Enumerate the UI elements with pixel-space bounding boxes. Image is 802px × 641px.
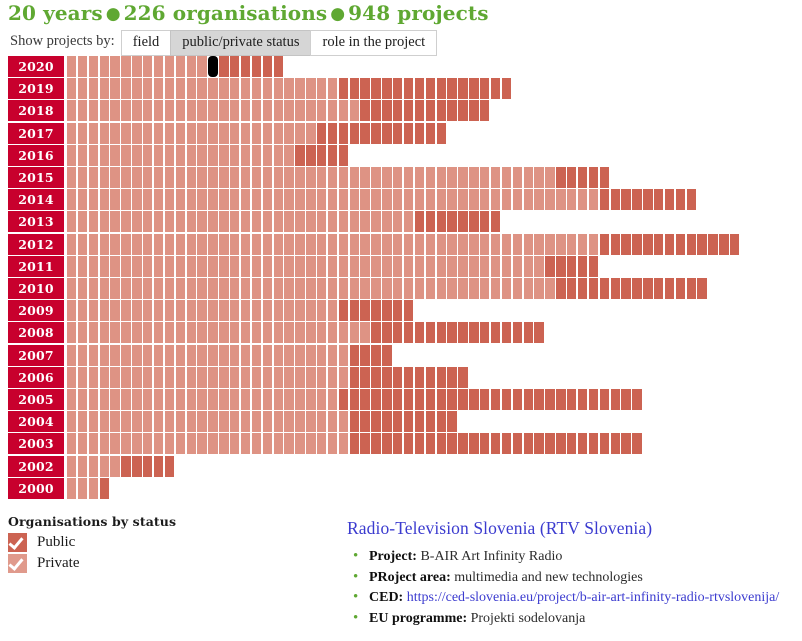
- project-cell[interactable]: [143, 345, 152, 366]
- project-cell[interactable]: [176, 345, 185, 366]
- project-cell[interactable]: [382, 100, 391, 121]
- project-cell[interactable]: [545, 433, 554, 454]
- project-cell[interactable]: [502, 322, 511, 343]
- project-cell[interactable]: [241, 256, 250, 277]
- project-cell[interactable]: [100, 167, 109, 188]
- project-cell[interactable]: [415, 411, 424, 432]
- project-cell[interactable]: [317, 300, 326, 321]
- project-cell[interactable]: [208, 389, 217, 410]
- project-cell[interactable]: [165, 123, 174, 144]
- project-cell[interactable]: [600, 278, 609, 299]
- project-cell[interactable]: [306, 278, 315, 299]
- project-cell[interactable]: [426, 234, 435, 255]
- project-cell[interactable]: [252, 145, 261, 166]
- project-cell[interactable]: [89, 345, 98, 366]
- project-cell[interactable]: [393, 322, 402, 343]
- project-cell[interactable]: [317, 367, 326, 388]
- project-cell[interactable]: [556, 433, 565, 454]
- project-cell[interactable]: [480, 189, 489, 210]
- project-cell[interactable]: [480, 211, 489, 232]
- project-cell[interactable]: [339, 211, 348, 232]
- project-cell[interactable]: [502, 389, 511, 410]
- project-cell[interactable]: [339, 345, 348, 366]
- project-cell[interactable]: [556, 234, 565, 255]
- project-cell[interactable]: [121, 56, 130, 77]
- project-cell[interactable]: [230, 167, 239, 188]
- project-cell[interactable]: [176, 145, 185, 166]
- project-cell[interactable]: [197, 211, 206, 232]
- project-cell[interactable]: [187, 433, 196, 454]
- project-cell[interactable]: [437, 234, 446, 255]
- project-cell[interactable]: [306, 189, 315, 210]
- project-cell[interactable]: [154, 211, 163, 232]
- project-cell[interactable]: [415, 433, 424, 454]
- project-cell[interactable]: [371, 189, 380, 210]
- project-cell[interactable]: [556, 278, 565, 299]
- project-cell[interactable]: [263, 78, 272, 99]
- project-cell[interactable]: [284, 167, 293, 188]
- project-cell[interactable]: [447, 167, 456, 188]
- project-cell[interactable]: [110, 167, 119, 188]
- project-cell[interactable]: [121, 211, 130, 232]
- project-cell[interactable]: [154, 256, 163, 277]
- project-cell[interactable]: [219, 78, 228, 99]
- project-cell[interactable]: [589, 278, 598, 299]
- project-cell[interactable]: [67, 478, 76, 499]
- project-cell[interactable]: [208, 278, 217, 299]
- project-cell[interactable]: [458, 100, 467, 121]
- project-cell[interactable]: [284, 256, 293, 277]
- project-cell[interactable]: [67, 234, 76, 255]
- project-cell[interactable]: [491, 167, 500, 188]
- project-cell[interactable]: [176, 100, 185, 121]
- project-cell[interactable]: [89, 456, 98, 477]
- project-cell[interactable]: [154, 189, 163, 210]
- project-cell[interactable]: [230, 322, 239, 343]
- project-cell[interactable]: [382, 78, 391, 99]
- project-cell[interactable]: [437, 411, 446, 432]
- project-cell[interactable]: [676, 234, 685, 255]
- project-cell[interactable]: [458, 433, 467, 454]
- project-cell[interactable]: [284, 345, 293, 366]
- project-cell[interactable]: [284, 211, 293, 232]
- project-cell[interactable]: [469, 78, 478, 99]
- project-cell[interactable]: [306, 78, 315, 99]
- project-cell[interactable]: [404, 100, 413, 121]
- project-cell[interactable]: [121, 367, 130, 388]
- year-label-2009[interactable]: 2009: [8, 300, 64, 321]
- project-cell[interactable]: [230, 433, 239, 454]
- project-cell[interactable]: [284, 145, 293, 166]
- project-cell[interactable]: [317, 189, 326, 210]
- project-cell[interactable]: [306, 123, 315, 144]
- project-cell[interactable]: [556, 167, 565, 188]
- project-cell[interactable]: [306, 234, 315, 255]
- project-cell[interactable]: [437, 389, 446, 410]
- project-cell[interactable]: [67, 56, 76, 77]
- project-cell[interactable]: [165, 433, 174, 454]
- project-cell[interactable]: [491, 211, 500, 232]
- project-cell[interactable]: [78, 100, 87, 121]
- project-cell[interactable]: [219, 234, 228, 255]
- project-cell[interactable]: [382, 123, 391, 144]
- project-cell[interactable]: [197, 100, 206, 121]
- project-cell[interactable]: [437, 322, 446, 343]
- project-cell[interactable]: [252, 367, 261, 388]
- project-cell[interactable]: [241, 123, 250, 144]
- tab-field[interactable]: field: [121, 30, 172, 56]
- project-cell[interactable]: [197, 189, 206, 210]
- year-label-2005[interactable]: 2005: [8, 389, 64, 410]
- project-cell[interactable]: [524, 189, 533, 210]
- project-cell[interactable]: [339, 123, 348, 144]
- project-cell[interactable]: [176, 411, 185, 432]
- project-cell[interactable]: [545, 256, 554, 277]
- project-cell[interactable]: [524, 234, 533, 255]
- project-cell[interactable]: [230, 211, 239, 232]
- project-cell[interactable]: [110, 411, 119, 432]
- project-cell[interactable]: [284, 234, 293, 255]
- project-cell[interactable]: [611, 433, 620, 454]
- project-cell[interactable]: [284, 300, 293, 321]
- project-cell[interactable]: [132, 345, 141, 366]
- project-cell[interactable]: [263, 278, 272, 299]
- project-cell[interactable]: [491, 234, 500, 255]
- project-cell[interactable]: [143, 56, 152, 77]
- project-cell[interactable]: [534, 433, 543, 454]
- project-cell[interactable]: [78, 478, 87, 499]
- project-cell[interactable]: [350, 300, 359, 321]
- project-cell[interactable]: [241, 345, 250, 366]
- project-cell[interactable]: [524, 167, 533, 188]
- project-cell[interactable]: [350, 345, 359, 366]
- project-cell[interactable]: [513, 322, 522, 343]
- project-cell[interactable]: [208, 411, 217, 432]
- project-cell[interactable]: [165, 234, 174, 255]
- project-cell[interactable]: [502, 78, 511, 99]
- project-cell[interactable]: [404, 389, 413, 410]
- project-cell[interactable]: [176, 123, 185, 144]
- project-cell[interactable]: [350, 322, 359, 343]
- project-cell[interactable]: [100, 211, 109, 232]
- project-cell[interactable]: [295, 300, 304, 321]
- project-cell[interactable]: [252, 300, 261, 321]
- project-cell[interactable]: [154, 123, 163, 144]
- project-cell[interactable]: [393, 211, 402, 232]
- project-cell[interactable]: [371, 123, 380, 144]
- project-cell[interactable]: [110, 189, 119, 210]
- project-cell[interactable]: [317, 278, 326, 299]
- project-cell[interactable]: [89, 300, 98, 321]
- project-cell[interactable]: [371, 367, 380, 388]
- project-cell[interactable]: [154, 345, 163, 366]
- project-cell[interactable]: [263, 300, 272, 321]
- project-cell[interactable]: [578, 189, 587, 210]
- project-cell[interactable]: [350, 100, 359, 121]
- project-cell[interactable]: [556, 189, 565, 210]
- project-cell[interactable]: [415, 167, 424, 188]
- project-cell[interactable]: [154, 322, 163, 343]
- project-cell[interactable]: [632, 433, 641, 454]
- project-cell[interactable]: [687, 189, 696, 210]
- project-cell[interactable]: [100, 322, 109, 343]
- legend-item-public[interactable]: Public: [8, 533, 176, 552]
- project-cell[interactable]: [263, 189, 272, 210]
- year-label-2020[interactable]: 2020: [8, 56, 64, 77]
- project-cell[interactable]: [197, 256, 206, 277]
- project-cell[interactable]: [480, 100, 489, 121]
- project-cell[interactable]: [306, 389, 315, 410]
- project-cell[interactable]: [339, 189, 348, 210]
- project-cell[interactable]: [480, 389, 489, 410]
- project-cell[interactable]: [306, 345, 315, 366]
- project-cell[interactable]: [208, 123, 217, 144]
- project-cell[interactable]: [143, 145, 152, 166]
- project-cell[interactable]: [437, 278, 446, 299]
- project-cell[interactable]: [339, 300, 348, 321]
- project-cell[interactable]: [89, 256, 98, 277]
- project-cell[interactable]: [513, 389, 522, 410]
- project-cell[interactable]: [121, 300, 130, 321]
- project-cell[interactable]: [154, 100, 163, 121]
- project-cell[interactable]: [437, 100, 446, 121]
- project-cell[interactable]: [121, 145, 130, 166]
- project-cell[interactable]: [154, 456, 163, 477]
- project-cell[interactable]: [393, 367, 402, 388]
- project-cell[interactable]: [502, 278, 511, 299]
- project-cell[interactable]: [350, 234, 359, 255]
- project-cell[interactable]: [274, 167, 283, 188]
- project-cell[interactable]: [187, 389, 196, 410]
- project-cell[interactable]: [110, 345, 119, 366]
- project-cell[interactable]: [360, 433, 369, 454]
- project-cell[interactable]: [447, 211, 456, 232]
- project-cell[interactable]: [219, 211, 228, 232]
- project-cell[interactable]: [404, 411, 413, 432]
- project-cell[interactable]: [328, 389, 337, 410]
- project-cell[interactable]: [121, 256, 130, 277]
- project-cell[interactable]: [621, 433, 630, 454]
- project-cell[interactable]: [132, 367, 141, 388]
- project-cell[interactable]: [121, 234, 130, 255]
- project-cell[interactable]: [132, 189, 141, 210]
- project-cell[interactable]: [687, 278, 696, 299]
- project-cell[interactable]: [274, 256, 283, 277]
- project-cell[interactable]: [132, 100, 141, 121]
- project-cell[interactable]: [578, 389, 587, 410]
- project-cell[interactable]: [78, 56, 87, 77]
- project-cell[interactable]: [230, 56, 239, 77]
- project-cell[interactable]: [274, 389, 283, 410]
- project-cell[interactable]: [404, 211, 413, 232]
- project-cell[interactable]: [328, 411, 337, 432]
- project-cell[interactable]: [110, 389, 119, 410]
- project-cell[interactable]: [132, 167, 141, 188]
- project-cell[interactable]: [132, 433, 141, 454]
- project-cell[interactable]: [230, 300, 239, 321]
- project-cell[interactable]: [219, 123, 228, 144]
- project-cell[interactable]: [284, 78, 293, 99]
- project-cell[interactable]: [230, 278, 239, 299]
- project-cell[interactable]: [187, 123, 196, 144]
- project-cell[interactable]: [665, 189, 674, 210]
- project-cell[interactable]: [197, 78, 206, 99]
- project-cell[interactable]: [393, 256, 402, 277]
- project-cell[interactable]: [208, 100, 217, 121]
- project-cell[interactable]: [252, 123, 261, 144]
- project-cell[interactable]: [121, 433, 130, 454]
- project-cell[interactable]: [78, 189, 87, 210]
- project-cell[interactable]: [360, 211, 369, 232]
- project-cell[interactable]: [426, 211, 435, 232]
- project-cell[interactable]: [469, 278, 478, 299]
- project-cell[interactable]: [100, 56, 109, 77]
- project-cell[interactable]: [252, 167, 261, 188]
- project-cell[interactable]: [447, 256, 456, 277]
- project-cell[interactable]: [415, 389, 424, 410]
- project-cell[interactable]: [589, 389, 598, 410]
- project-cell[interactable]: [208, 345, 217, 366]
- year-label-2014[interactable]: 2014: [8, 189, 64, 210]
- project-cell[interactable]: [447, 322, 456, 343]
- project-cell[interactable]: [306, 167, 315, 188]
- project-cell[interactable]: [187, 256, 196, 277]
- project-cell[interactable]: [295, 411, 304, 432]
- project-cell[interactable]: [328, 211, 337, 232]
- project-cell[interactable]: [78, 456, 87, 477]
- project-cell[interactable]: [404, 189, 413, 210]
- project-cell[interactable]: [67, 189, 76, 210]
- project-cell[interactable]: [241, 278, 250, 299]
- project-cell[interactable]: [534, 167, 543, 188]
- project-cell[interactable]: [730, 234, 739, 255]
- project-cell[interactable]: [154, 78, 163, 99]
- project-cell[interactable]: [480, 322, 489, 343]
- project-cell[interactable]: [578, 278, 587, 299]
- project-cell[interactable]: [524, 256, 533, 277]
- project-cell[interactable]: [600, 389, 609, 410]
- project-cell[interactable]: [339, 278, 348, 299]
- project-cell[interactable]: [447, 234, 456, 255]
- project-cell[interactable]: [197, 56, 206, 77]
- project-cell[interactable]: [197, 278, 206, 299]
- project-cell[interactable]: [404, 300, 413, 321]
- project-cell[interactable]: [67, 456, 76, 477]
- project-cell[interactable]: [89, 322, 98, 343]
- project-cell[interactable]: [491, 278, 500, 299]
- project-cell[interactable]: [67, 300, 76, 321]
- project-cell[interactable]: [676, 189, 685, 210]
- project-cell[interactable]: [143, 411, 152, 432]
- project-cell[interactable]: [339, 100, 348, 121]
- project-cell[interactable]: [415, 234, 424, 255]
- project-cell[interactable]: [437, 367, 446, 388]
- project-cell[interactable]: [110, 278, 119, 299]
- project-cell[interactable]: [317, 78, 326, 99]
- project-cell[interactable]: [208, 211, 217, 232]
- project-cell[interactable]: [382, 433, 391, 454]
- project-cell[interactable]: [187, 100, 196, 121]
- project-cell[interactable]: [360, 167, 369, 188]
- project-cell[interactable]: [219, 189, 228, 210]
- project-cell[interactable]: [360, 322, 369, 343]
- project-cell[interactable]: [371, 411, 380, 432]
- project-cell[interactable]: [241, 167, 250, 188]
- project-cell[interactable]: [611, 278, 620, 299]
- project-cell[interactable]: [67, 322, 76, 343]
- project-cell[interactable]: [78, 211, 87, 232]
- project-cell[interactable]: [426, 123, 435, 144]
- project-cell[interactable]: [89, 189, 98, 210]
- project-cell[interactable]: [274, 433, 283, 454]
- project-cell[interactable]: [295, 211, 304, 232]
- project-cell[interactable]: [165, 256, 174, 277]
- project-cell[interactable]: [165, 78, 174, 99]
- project-cell[interactable]: [502, 256, 511, 277]
- project-cell[interactable]: [241, 367, 250, 388]
- project-cell[interactable]: [110, 256, 119, 277]
- project-cell[interactable]: [393, 411, 402, 432]
- project-cell[interactable]: [208, 367, 217, 388]
- project-cell[interactable]: [89, 100, 98, 121]
- project-cell[interactable]: [263, 234, 272, 255]
- project-cell[interactable]: [143, 211, 152, 232]
- project-cell[interactable]: [165, 322, 174, 343]
- project-cell[interactable]: [274, 234, 283, 255]
- project-cell[interactable]: [393, 100, 402, 121]
- project-cell[interactable]: [67, 389, 76, 410]
- project-cell[interactable]: [360, 389, 369, 410]
- project-cell[interactable]: [295, 167, 304, 188]
- project-cell[interactable]: [350, 433, 359, 454]
- project-cell[interactable]: [165, 456, 174, 477]
- project-cell[interactable]: [350, 167, 359, 188]
- year-label-2015[interactable]: 2015: [8, 167, 64, 188]
- project-cell[interactable]: [187, 211, 196, 232]
- project-cell[interactable]: [230, 78, 239, 99]
- project-cell[interactable]: [524, 278, 533, 299]
- project-cell[interactable]: [458, 256, 467, 277]
- year-label-2006[interactable]: 2006: [8, 367, 64, 388]
- project-cell[interactable]: [67, 256, 76, 277]
- project-cell[interactable]: [350, 211, 359, 232]
- project-cell[interactable]: [67, 167, 76, 188]
- project-cell[interactable]: [480, 433, 489, 454]
- project-cell[interactable]: [263, 322, 272, 343]
- project-cell[interactable]: [480, 234, 489, 255]
- project-cell[interactable]: [480, 167, 489, 188]
- project-cell[interactable]: [263, 167, 272, 188]
- project-cell[interactable]: [176, 433, 185, 454]
- year-label-2007[interactable]: 2007: [8, 345, 64, 366]
- tab-role-in-the-project[interactable]: role in the project: [310, 30, 437, 56]
- project-cell[interactable]: [306, 322, 315, 343]
- project-cell[interactable]: [110, 456, 119, 477]
- project-cell[interactable]: [306, 145, 315, 166]
- project-cell[interactable]: [274, 189, 283, 210]
- project-cell[interactable]: [154, 167, 163, 188]
- project-cell[interactable]: [328, 433, 337, 454]
- project-cell[interactable]: [697, 278, 706, 299]
- project-cell[interactable]: [67, 145, 76, 166]
- project-cell[interactable]: [458, 234, 467, 255]
- project-cell[interactable]: [230, 389, 239, 410]
- project-cell[interactable]: [393, 300, 402, 321]
- project-cell[interactable]: [132, 256, 141, 277]
- project-cell[interactable]: [317, 123, 326, 144]
- project-cell[interactable]: [89, 278, 98, 299]
- project-cell[interactable]: [219, 100, 228, 121]
